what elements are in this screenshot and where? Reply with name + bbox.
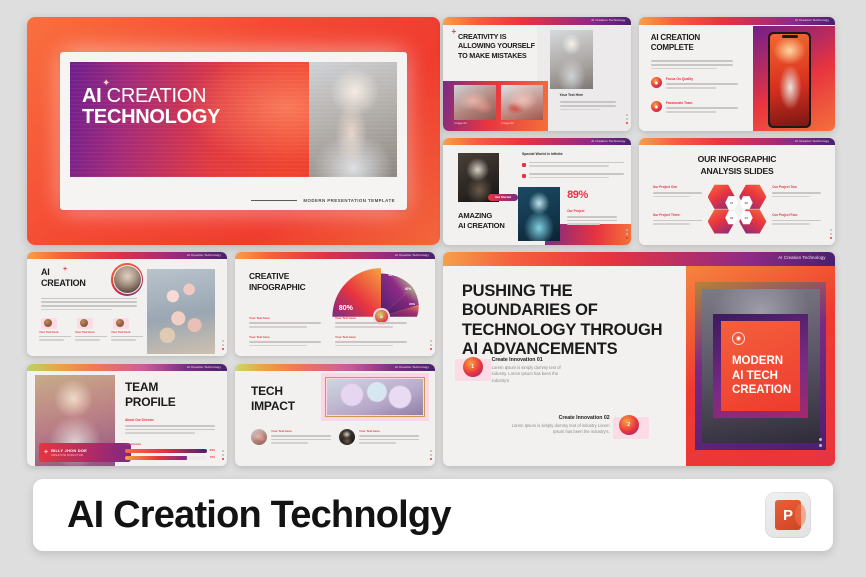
project-2-label: Our Project Two — [772, 185, 821, 189]
complete-bullet-2: ◉ Passionate Team — [651, 101, 738, 112]
tech-avatar-2 — [339, 429, 355, 445]
complete-title: AI CREATION COMPLETE — [651, 33, 700, 53]
innovation-1-badge: 1 — [463, 357, 483, 377]
avatar-ring — [111, 263, 143, 295]
analysis-title-line-1: OUR INFOGRAPHIC — [639, 154, 835, 166]
project-4-label: Our Project Four — [772, 213, 821, 217]
tech-title: TECH IMPACT — [251, 384, 295, 414]
creativity-body-lines — [560, 101, 616, 110]
stat-1-label: Your Text Here — [39, 330, 71, 334]
poster-frame-outer: ◉ MODERN AI TECH CREATION — [695, 282, 826, 450]
pie-label-40: 40% — [405, 287, 411, 291]
pushing-title-line-1: PUSHING THE — [462, 282, 663, 301]
project-1-lines — [653, 192, 702, 197]
skill-bar-2 — [125, 456, 207, 460]
stat-3-lines — [111, 336, 143, 341]
plus-icon: + — [451, 27, 456, 36]
amazing-stat-label: Our Project — [567, 209, 584, 213]
analysis-title-line-2: ANALYSIS SLIDES — [639, 166, 835, 178]
bullet-1-lines — [666, 83, 738, 88]
project-2-lines — [772, 192, 821, 197]
team-body-lines — [125, 425, 215, 434]
hero-footer: MODERN PRESENTATION TEMPLATE — [251, 198, 395, 203]
tech-title-line-1: TECH — [251, 384, 295, 399]
tech-avatar-1 — [251, 429, 267, 445]
slide-infographic-analysis[interactable]: AI Creation Technology OUR INFOGRAPHIC A… — [639, 138, 835, 245]
stat-card-3: Your Text Here — [111, 318, 143, 341]
avatar — [113, 265, 142, 294]
infographic-text-1: Your Text Here — [249, 316, 321, 327]
slide-pagination-dots[interactable] — [626, 114, 628, 124]
innovation-1-heading: Create Innovation 01 — [492, 357, 576, 363]
team-member-role: CREATIVE DIRECTOR — [51, 454, 87, 457]
slide-ai-creation[interactable]: AI Creation Technology AI CREATION + You… — [27, 252, 227, 356]
infographic-title-line-2: INFOGRAPHIC — [249, 282, 305, 293]
tech-item-2-lines — [359, 435, 419, 444]
photo-tech-crowd — [327, 379, 423, 415]
skill-2-value: 70% — [210, 456, 215, 459]
slide-badge: AI Creation Technology — [778, 255, 826, 260]
list-2-lines — [529, 173, 624, 178]
slide-badge: AI Creation Technology — [795, 18, 829, 22]
complete-title-line-1: AI CREATION — [651, 33, 700, 43]
team-name-badge: + BILLY JHON DOE CREATIVE DIRECTOR — [39, 443, 131, 462]
text-4-label: Your Text Here — [335, 335, 407, 339]
amazing-stat-value: 89% — [567, 189, 588, 201]
poster-line-1: MODERN — [732, 354, 791, 368]
bullet-icon-2: ◉ — [651, 101, 662, 112]
slide-pagination-dots[interactable] — [626, 229, 628, 239]
pie-label-80: 80% — [339, 305, 353, 312]
stat-1-lines — [39, 336, 71, 341]
bullet-icon-1: ◉ — [651, 77, 662, 88]
infographic-title: CREATIVE INFOGRAPHIC — [249, 271, 305, 293]
phone-mockup — [768, 32, 811, 128]
powerpoint-icon[interactable]: P — [765, 492, 811, 538]
tech-photo-frame — [325, 377, 425, 417]
photo-image-01 — [454, 85, 495, 119]
slide-badge: AI Creation Technology — [795, 139, 829, 143]
text-4-lines — [335, 341, 407, 346]
pie-label-20: 20% — [409, 302, 415, 306]
complete-bullet-1: ◉ Focus On Quality — [651, 77, 738, 88]
stat-3-label: Your Text Here — [111, 330, 143, 334]
text-2-label: Your Text Here — [335, 316, 407, 320]
slide-ai-creation-complete[interactable]: AI Creation Technology AI CREATION COMPL… — [639, 17, 835, 131]
bullet-1-label: Focus On Quality — [666, 77, 738, 81]
stat-card-2: Your Text Here — [75, 318, 107, 341]
amazing-list-item-1 — [522, 162, 624, 167]
bottom-title-banner: AI Creation Technolgy P — [33, 479, 833, 551]
project-3-lines — [653, 220, 702, 225]
poster-mark-icon: ◉ — [732, 332, 745, 345]
pushing-title-line-3: TECHNOLOGY THROUGH — [462, 321, 663, 340]
list-1-lines — [529, 162, 624, 167]
tech-title-line-2: IMPACT — [251, 399, 295, 414]
hero-slide-canvas: ✦ AI CREATION TECHNOLOGY MODERN PRESENTA… — [60, 52, 407, 210]
project-4-lines — [772, 220, 821, 225]
aicreation-body-lines — [41, 298, 137, 310]
hero-title-ai: AI — [82, 85, 101, 107]
stat-icon-3 — [116, 319, 124, 327]
project-3-label: Our Project Three — [653, 213, 702, 217]
infographic-text-2: Your Text Here — [335, 316, 407, 327]
bullet-2-label: Passionate Team — [666, 101, 738, 105]
tech-item-2: Your Text Here — [339, 429, 419, 445]
hero-title-technology: TECHNOLOGY — [82, 106, 220, 129]
skill-1-value: 90% — [210, 449, 215, 452]
stat-icon-1 — [44, 319, 52, 327]
pushing-item-1: 1 Create Innovation 01 Lorem Ipsum is si… — [463, 357, 576, 385]
tech-item-2-label: Your Text Here — [359, 429, 419, 433]
pushing-item-2: Create Innovation 02 Lorem Ipsum is simp… — [510, 415, 639, 436]
slide-badge: AI Creation Technology — [591, 18, 625, 22]
complete-intro-lines — [651, 60, 733, 69]
photo-image-02 — [501, 85, 542, 119]
photo-cyber-woman — [518, 187, 559, 241]
creativity-side-label: Your Text Here — [560, 93, 584, 97]
text-1-label: Your Text Here — [249, 316, 321, 320]
slide-creative-infographic[interactable]: AI Creation Technology CREATIVE INFOGRAP… — [235, 252, 435, 356]
tech-photo-glow — [321, 373, 429, 421]
innovation-2-body: Lorem Ipsum is simply dummy text of indu… — [510, 423, 610, 436]
caption-image-02: Image 02 — [501, 121, 514, 125]
creativity-title: CREATIVITY IS ALLOWING YOURSELF TO MAKE … — [458, 32, 535, 60]
team-skill-row-1: 90% — [125, 449, 215, 453]
amazing-stat-lines — [567, 216, 617, 225]
slide-pagination-dots[interactable] — [222, 340, 224, 350]
team-title-line-1: TEAM — [125, 380, 176, 395]
slide-badge: AI Creation Technology — [395, 253, 429, 257]
text-2-lines — [335, 322, 407, 327]
slide-badge: AI Creation Technology — [395, 365, 429, 369]
team-skills-heading: Experience — [125, 442, 141, 446]
bullet-2-lines — [666, 107, 738, 112]
stat-2-label: Your Text Here — [75, 330, 107, 334]
screenshot-stage: ✦ AI CREATION TECHNOLOGY MODERN PRESENTA… — [0, 0, 866, 577]
project-1-label: Our Project One — [653, 185, 702, 189]
slide-amazing-ai-creation[interactable]: AI Creation Technology Get Started AMAZI… — [443, 138, 631, 245]
tech-item-1-lines — [271, 435, 331, 444]
footer-rule — [251, 200, 297, 201]
phone-screen-photo — [770, 34, 809, 126]
analysis-title: OUR INFOGRAPHIC ANALYSIS SLIDES — [639, 154, 835, 177]
get-started-button[interactable]: Get Started — [488, 194, 518, 201]
analysis-project-3: Our Project Three — [653, 213, 702, 225]
infographic-text-3: Your Text Here — [249, 335, 321, 346]
infographic-text-4: Your Text Here — [335, 335, 407, 346]
list-bullet-icon — [522, 163, 526, 167]
innovation-2-heading: Create Innovation 02 — [510, 415, 610, 421]
pushing-title-line-2: BOUNDARIES OF — [462, 301, 663, 320]
caption-image-01: Image 01 — [454, 121, 467, 125]
slide-pagination-dots[interactable] — [830, 229, 832, 239]
slide-creativity[interactable]: AI Creation Technology CREATIVITY IS ALL… — [443, 17, 631, 131]
text-3-label: Your Text Here — [249, 335, 321, 339]
aicreation-title-line-2: CREATION — [41, 278, 86, 289]
slide-pushing-boundaries[interactable]: AI Creation Technology PUSHING THE BOUND… — [443, 252, 835, 466]
aicreation-stats: Your Text Here Your Text Here Your Text … — [39, 318, 143, 341]
poster-panel: ◉ MODERN AI TECH CREATION — [686, 266, 835, 466]
innovation-1-number: 1 — [463, 357, 483, 377]
phone-notch — [782, 35, 798, 38]
tech-item-1: Your Text Here — [251, 429, 331, 445]
innovation-1-body: Lorem Ipsum is simply dummy text of indu… — [492, 365, 576, 385]
hero-photo-woman — [309, 62, 397, 177]
creativity-title-line-3: TO MAKE MISTAKES — [458, 51, 535, 60]
slide-badge: AI Creation Technology — [591, 139, 625, 143]
creativity-title-line-1: CREATIVITY IS — [458, 32, 535, 41]
poster-line-2: AI TECH — [732, 369, 791, 383]
team-member-name: BILLY JHON DOE — [51, 448, 87, 453]
slide-pagination-dots[interactable] — [819, 438, 822, 453]
slide-badge: AI Creation Technology — [187, 253, 221, 257]
amazing-title-line-1: AMAZING — [458, 211, 505, 221]
hero-slide[interactable]: ✦ AI CREATION TECHNOLOGY MODERN PRESENTA… — [27, 17, 440, 245]
pie-label-60: 60% — [389, 273, 396, 277]
slide-tech-impact[interactable]: AI Creation Technology TECH IMPACT Your … — [235, 364, 435, 466]
text-3-lines — [249, 341, 321, 346]
team-skill-row-2: 70% — [125, 456, 215, 460]
text-1-lines — [249, 322, 321, 327]
stat-icon-2 — [80, 319, 88, 327]
hero-title: AI CREATION TECHNOLOGY — [82, 86, 220, 129]
innovation-2-badge: 2 — [619, 415, 639, 435]
plus-icon: + — [44, 449, 48, 456]
amazing-title-line-2: AI CREATION — [458, 221, 505, 231]
team-title-line-2: PROFILE — [125, 395, 176, 410]
slide-pagination-dots[interactable] — [430, 450, 432, 460]
stat-2-lines — [75, 336, 107, 341]
team-subheading: About Our Director — [125, 418, 154, 422]
pushing-title: PUSHING THE BOUNDARIES OF TECHNOLOGY THR… — [462, 282, 663, 360]
analysis-project-4: Our Project Four — [772, 213, 821, 225]
analysis-project-1: Our Project One — [653, 185, 702, 197]
amazing-panel-heading: Special World in Infinite — [522, 152, 563, 156]
hero-title-creation: CREATION — [107, 85, 206, 107]
amazing-list-item-2 — [522, 173, 624, 178]
hero-footer-label: MODERN PRESENTATION TEMPLATE — [303, 198, 395, 203]
slide-team-profile[interactable]: AI Creation Technology + BILLY JHON DOE … — [27, 364, 227, 466]
photo-woman-silver — [550, 30, 593, 89]
photo-coral — [147, 269, 215, 354]
slide-pagination-dots[interactable] — [222, 450, 224, 460]
powerpoint-icon-letter: P — [775, 500, 801, 530]
plus-icon: + — [63, 266, 67, 273]
stat-card-1: Your Text Here — [39, 318, 71, 341]
skill-bar-1 — [125, 449, 207, 453]
innovation-2-number: 2 — [619, 415, 639, 435]
poster-inner-fill: ◉ MODERN AI TECH CREATION — [721, 321, 800, 411]
analysis-project-2: Our Project Two — [772, 185, 821, 197]
tech-item-1-label: Your Text Here — [271, 429, 331, 433]
creativity-title-line-2: ALLOWING YOURSELF — [458, 41, 535, 50]
poster-frame-inner: ◉ MODERN AI TECH CREATION — [713, 314, 807, 418]
poster-title: MODERN AI TECH CREATION — [732, 354, 791, 397]
complete-title-line-2: COMPLETE — [651, 43, 700, 53]
list-bullet-icon — [522, 174, 526, 178]
slide-topbar — [443, 252, 835, 266]
slide-badge: AI Creation Technology — [187, 365, 221, 369]
sparkle-icon: ✦ — [102, 78, 110, 89]
slide-pagination-dots[interactable] — [430, 340, 432, 350]
amazing-title: AMAZING AI CREATION — [458, 211, 505, 231]
team-title: TEAM PROFILE — [125, 380, 176, 410]
infographic-title-line-1: CREATIVE — [249, 271, 305, 282]
poster-line-3: CREATION — [732, 383, 791, 397]
banner-title: AI Creation Technolgy — [67, 494, 451, 537]
